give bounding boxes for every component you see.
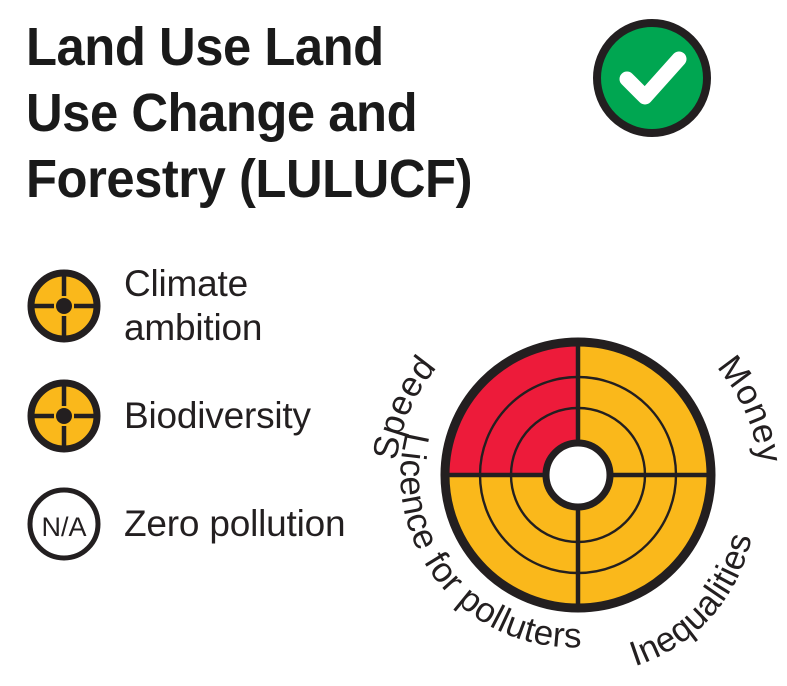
status-badge bbox=[589, 15, 715, 141]
na-icon-text: N/A bbox=[41, 512, 86, 542]
page-title-line-1: Land Use Land bbox=[26, 14, 515, 80]
dial-hub bbox=[546, 443, 610, 507]
legend-item-label: Climate ambition bbox=[124, 262, 262, 350]
crosshair-target-icon bbox=[22, 374, 106, 458]
page-title-line-2: Use Change and bbox=[26, 80, 515, 146]
dial-label-money: Money bbox=[710, 348, 784, 465]
legend-item-climate-ambition: Climate ambition bbox=[22, 262, 392, 350]
legend: Climate ambition Biodiversity N/A bbox=[22, 262, 392, 590]
na-circle-icon: N/A bbox=[22, 482, 106, 566]
legend-item-label: Zero pollution bbox=[124, 502, 345, 546]
legend-item-label: Biodiversity bbox=[124, 394, 311, 438]
quadrant-dial-chart: Speed Money Inequalities Licence for pol… bbox=[372, 269, 784, 681]
legend-item-biodiversity: Biodiversity bbox=[22, 374, 392, 458]
dial-label-money-text: Money bbox=[710, 348, 784, 465]
page-title-line-3: Forestry (LULUCF) bbox=[26, 146, 515, 212]
page-title: Land Use Land Use Change and Forestry (L… bbox=[26, 14, 546, 212]
check-circle-icon bbox=[589, 15, 715, 141]
legend-item-zero-pollution: N/A Zero pollution bbox=[22, 482, 392, 566]
crosshair-target-icon bbox=[22, 264, 106, 348]
infographic-card: Land Use Land Use Change and Forestry (L… bbox=[0, 0, 787, 686]
